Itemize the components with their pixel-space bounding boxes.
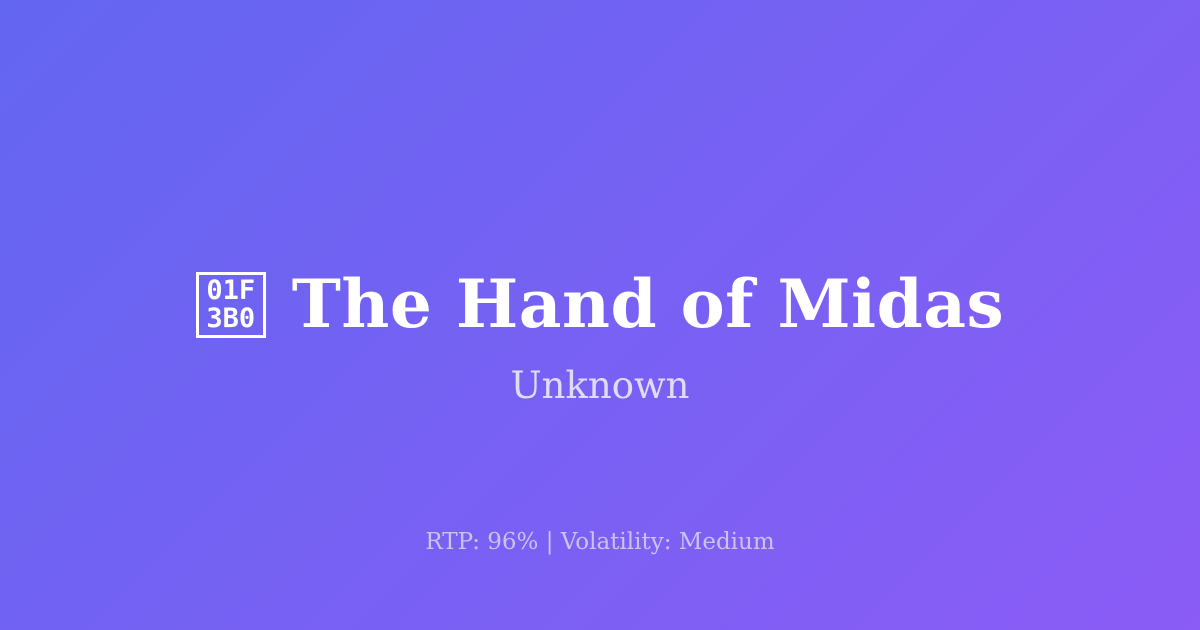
tofu-codepoint-top: 01F bbox=[206, 277, 255, 305]
slot-machine-emoji-icon: 01F 3B0 bbox=[196, 272, 266, 338]
game-provider: Unknown bbox=[0, 364, 1200, 408]
game-meta-line: RTP: 96% | Volatility: Medium bbox=[0, 528, 1200, 558]
tofu-codepoint-bottom: 3B0 bbox=[206, 305, 255, 333]
og-share-card: 01F 3B0 The Hand of Midas Unknown RTP: 9… bbox=[0, 0, 1200, 630]
title-row: 01F 3B0 The Hand of Midas bbox=[0, 226, 1200, 384]
game-title: The Hand of Midas bbox=[292, 270, 1004, 339]
